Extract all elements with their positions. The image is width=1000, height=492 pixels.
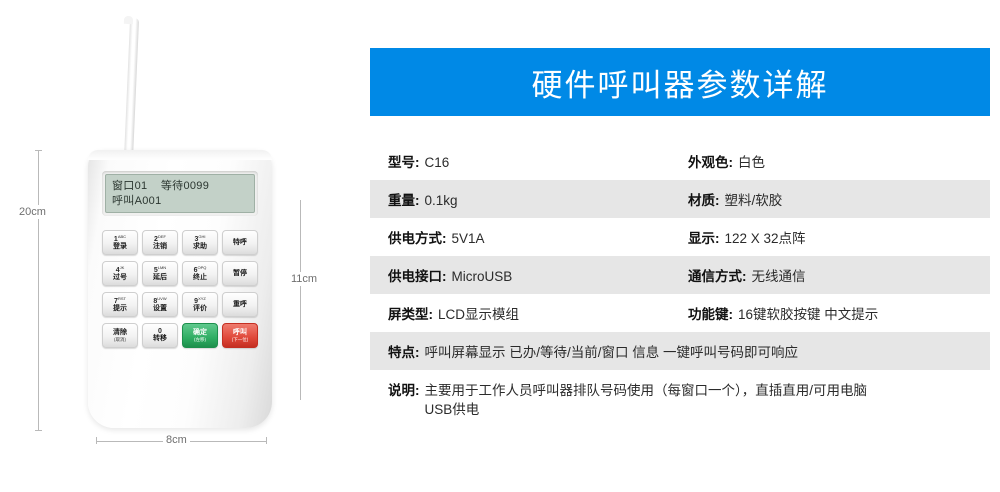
key-main-label: 转移 xyxy=(153,335,167,343)
spec-cell-left-1: 重量:0.1kg xyxy=(388,189,688,210)
key-main-label: 评价 xyxy=(193,305,207,313)
width-dimension-cap-right xyxy=(266,437,267,444)
spec-cell-feature: 特点:呼叫屏幕显示 已办/等待/当前/窗口 信息 一键呼叫号码即可响应 xyxy=(388,341,988,362)
key-digit-label: 3GHI xyxy=(194,234,205,243)
key-digit-label: 1ABC xyxy=(114,234,126,243)
spec-header-banner: 硬件呼叫器参数详解 xyxy=(370,48,990,116)
key-digit-label: 6OPQ xyxy=(194,265,207,274)
spec-sheet-panel: 硬件呼叫器参数详解 型号:C16外观色:白色重量:0.1kg材质:塑料/软胶供电… xyxy=(370,0,990,492)
depth-dimension-line xyxy=(300,200,301,400)
spec-cell-left-3: 供电接口:MicroUSB xyxy=(388,265,688,286)
height-dimension-cap-top xyxy=(35,150,42,151)
key-main-label: 确定 xyxy=(193,329,207,337)
key-main-label: 终止 xyxy=(193,274,207,282)
spec-value: 无线通信 xyxy=(752,267,806,286)
key-digit-label: 7RST xyxy=(114,296,126,305)
spec-row: 重量:0.1kg材质:塑料/软胶 xyxy=(370,180,990,218)
keypad-key-重呼[interactable]: 重呼 xyxy=(222,292,258,317)
spec-label: 屏类型: xyxy=(388,303,433,323)
spec-row: 屏类型:LCD显示模组功能键:16键软胶按键 中文提示 xyxy=(370,294,990,332)
key-main-label: 注销 xyxy=(153,243,167,251)
spec-cell-left-0: 型号:C16 xyxy=(388,151,688,172)
keypad-key-登录[interactable]: 1ABC登录 xyxy=(102,230,138,255)
spec-value: LCD显示模组 xyxy=(438,305,519,324)
spec-label: 外观色: xyxy=(688,151,733,171)
product-photo-panel: 20cm 11cm 8cm 窗口01 等待0099 呼叫A001 1ABC登录2… xyxy=(0,0,360,492)
keypad-key-确定[interactable]: 确定(左移) xyxy=(182,323,218,348)
key-digit-label: 5LMN xyxy=(154,265,166,274)
spec-label: 显示: xyxy=(688,227,720,247)
height-dimension-cap-bottom xyxy=(35,430,42,431)
spec-value: 0.1kg xyxy=(425,191,458,210)
lcd-line-1: 窗口01 等待0099 xyxy=(112,179,248,194)
key-main-label: 暂停 xyxy=(233,270,247,278)
keypad-key-暂停[interactable]: 暂停 xyxy=(222,261,258,286)
spec-label: 功能键: xyxy=(688,303,733,323)
spec-cell-right-1: 材质:塑料/软胶 xyxy=(688,189,782,210)
spec-cell-note: 说明:主要用于工作人员呼叫器排队号码使用（每窗口一个），直插直用/可用电脑 US… xyxy=(388,379,988,419)
spec-label: 供电接口: xyxy=(388,265,447,285)
key-digit-label: 4JK xyxy=(116,265,125,274)
spec-value: 16键软胶按键 中文提示 xyxy=(738,305,878,324)
spec-label: 特点: xyxy=(388,341,420,361)
spec-label: 型号: xyxy=(388,151,420,171)
spec-value: MicroUSB xyxy=(452,267,513,286)
spec-label: 供电方式: xyxy=(388,227,447,247)
spec-label: 说明: xyxy=(388,379,420,399)
spec-label: 通信方式: xyxy=(688,265,747,285)
spec-row-feature: 特点:呼叫屏幕显示 已办/等待/当前/窗口 信息 一键呼叫号码即可响应 xyxy=(370,332,990,370)
device-top-edge xyxy=(88,150,272,160)
spec-value: C16 xyxy=(425,153,450,172)
keypad-key-提示[interactable]: 7RST提示 xyxy=(102,292,138,317)
spec-row-note: 说明:主要用于工作人员呼叫器排队号码使用（每窗口一个），直插直用/可用电脑 US… xyxy=(370,370,990,422)
spec-label: 材质: xyxy=(688,189,720,209)
width-dimension-cap-left xyxy=(96,437,97,444)
spec-row: 供电接口:MicroUSB通信方式:无线通信 xyxy=(370,256,990,294)
depth-dimension-label: 11cm xyxy=(288,272,320,286)
spec-cell-right-4: 功能键:16键软胶按键 中文提示 xyxy=(688,303,878,324)
keypad-key-过号[interactable]: 4JK过号 xyxy=(102,261,138,286)
keypad-key-评价[interactable]: 9XYZ评价 xyxy=(182,292,218,317)
key-main-label: 登录 xyxy=(113,243,127,251)
spec-row: 型号:C16外观色:白色 xyxy=(370,142,990,180)
width-dimension-label: 8cm xyxy=(163,433,190,447)
antenna-tip-icon xyxy=(124,16,133,24)
spec-cell-left-4: 屏类型:LCD显示模组 xyxy=(388,303,688,324)
spec-cell-left-2: 供电方式:5V1A xyxy=(388,227,688,248)
spec-cell-right-0: 外观色:白色 xyxy=(688,151,765,172)
caller-device-body: 窗口01 等待0099 呼叫A001 1ABC登录2DEF注销3GHI求助特呼4… xyxy=(88,150,272,428)
key-main-label: 过号 xyxy=(113,274,127,282)
spec-label: 重量: xyxy=(388,189,420,209)
spec-value: 主要用于工作人员呼叫器排队号码使用（每窗口一个），直插直用/可用电脑 USB供电 xyxy=(425,381,868,419)
keypad-key-特呼[interactable]: 特呼 xyxy=(222,230,258,255)
keypad-key-转移[interactable]: 0转移 xyxy=(142,323,178,348)
key-main-label: 设置 xyxy=(153,305,167,313)
key-main-label: 延后 xyxy=(153,274,167,282)
antenna xyxy=(124,18,139,158)
key-main-label: 特呼 xyxy=(233,239,247,247)
height-dimension-line xyxy=(38,150,39,430)
keypad: 1ABC登录2DEF注销3GHI求助特呼4JK过号5LMN延后6OPQ终止暂停7… xyxy=(102,230,258,348)
key-main-label: 清除 xyxy=(113,329,127,337)
keypad-key-呼叫[interactable]: 呼叫(下一位) xyxy=(222,323,258,348)
keypad-key-设置[interactable]: 8UVW设置 xyxy=(142,292,178,317)
key-main-label: 提示 xyxy=(113,305,127,313)
key-digit-label: 8UVW xyxy=(153,296,166,305)
height-dimension-label: 20cm xyxy=(16,205,49,219)
key-digit-label: 9XYZ xyxy=(194,296,206,305)
spec-value: 122 X 32点阵 xyxy=(725,229,806,248)
lcd-line-2: 呼叫A001 xyxy=(112,194,248,209)
key-main-label: 求助 xyxy=(193,243,207,251)
lcd-screen: 窗口01 等待0099 呼叫A001 xyxy=(105,174,255,213)
key-main-label: 重呼 xyxy=(233,301,247,309)
lcd-bezel: 窗口01 等待0099 呼叫A001 xyxy=(102,171,258,216)
key-sub-label: (下一位) xyxy=(232,337,249,343)
key-digit-label: 2DEF xyxy=(154,234,166,243)
keypad-key-延后[interactable]: 5LMN延后 xyxy=(142,261,178,286)
key-sub-label: (左移) xyxy=(194,337,206,343)
spec-row: 供电方式:5V1A显示:122 X 32点阵 xyxy=(370,218,990,256)
key-sub-label: (取消) xyxy=(114,337,126,343)
spec-table: 型号:C16外观色:白色重量:0.1kg材质:塑料/软胶供电方式:5V1A显示:… xyxy=(370,142,990,422)
keypad-key-终止[interactable]: 6OPQ终止 xyxy=(182,261,218,286)
spec-value: 白色 xyxy=(738,153,765,172)
spec-value: 5V1A xyxy=(452,229,485,248)
spec-cell-right-3: 通信方式:无线通信 xyxy=(688,265,806,286)
spec-value: 塑料/软胶 xyxy=(725,191,783,210)
keypad-key-求助[interactable]: 3GHI求助 xyxy=(182,230,218,255)
keypad-key-注销[interactable]: 2DEF注销 xyxy=(142,230,178,255)
spec-title: 硬件呼叫器参数详解 xyxy=(532,60,829,105)
keypad-key-清除[interactable]: 清除(取消) xyxy=(102,323,138,348)
spec-cell-right-2: 显示:122 X 32点阵 xyxy=(688,227,806,248)
spec-value: 呼叫屏幕显示 已办/等待/当前/窗口 信息 一键呼叫号码即可响应 xyxy=(425,343,799,362)
key-main-label: 呼叫 xyxy=(233,329,247,337)
